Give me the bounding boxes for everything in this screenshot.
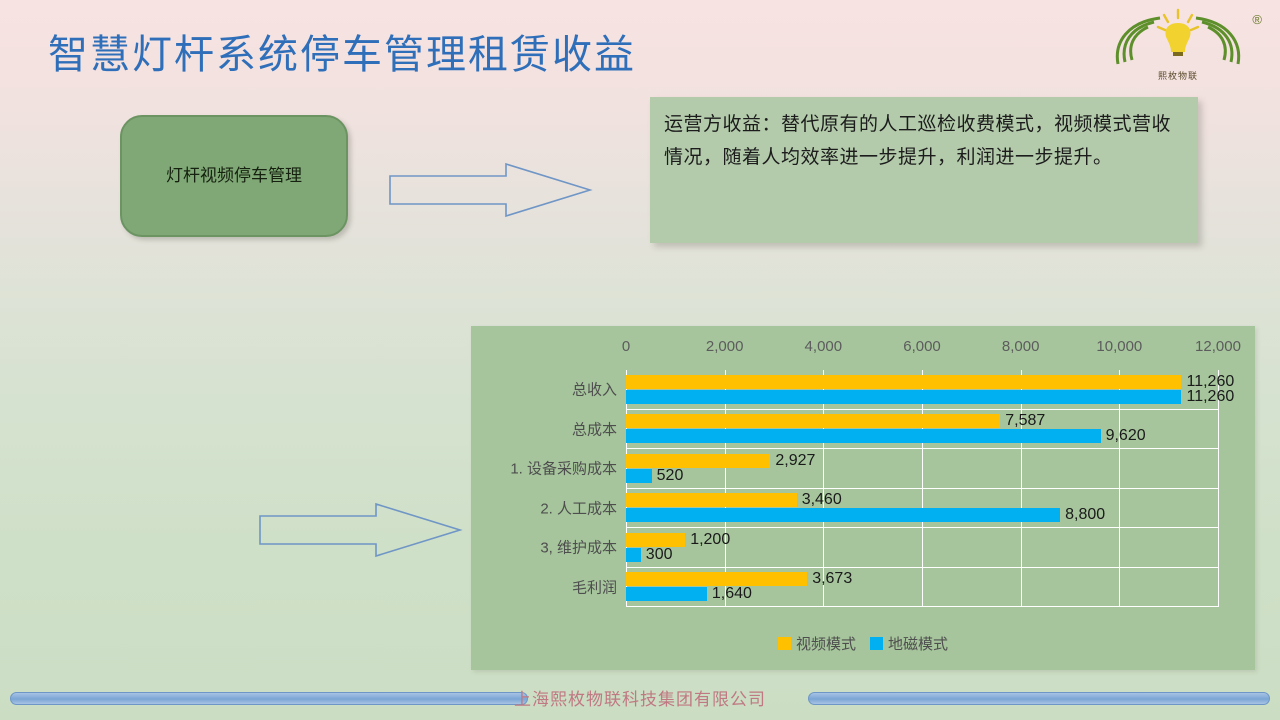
chart-category-row: 3, 维护成本1,200300	[626, 528, 1218, 568]
bar-地磁模式: 8,800	[626, 508, 1060, 522]
bar-value-label: 1,640	[712, 585, 752, 603]
bar-地磁模式: 300	[626, 548, 641, 562]
bar-视频模式: 3,673	[626, 572, 807, 586]
chart-category-row: 毛利润3,6731,640	[626, 568, 1218, 608]
chart-plot-area: 总收入11,26011,260总成本7,5879,6201. 设备采购成本2,9…	[626, 370, 1218, 607]
legend-item: 视频模式	[778, 633, 856, 654]
bar-value-label: 7,587	[1005, 412, 1045, 430]
revenue-comparison-chart: 02,0004,0006,0008,00010,00012,000 总收入11,…	[471, 326, 1255, 670]
bar-视频模式: 3,460	[626, 493, 797, 507]
chart-category-row: 2. 人工成本3,4608,800	[626, 489, 1218, 529]
footer-company-name: 上海熙枚物联科技集团有限公司	[0, 685, 1280, 710]
category-label: 总收入	[572, 379, 617, 400]
process-box-label: 灯杆视频停车管理	[166, 163, 302, 189]
company-logo: 熙枚物联 ®	[1088, 4, 1268, 84]
bar-value-label: 520	[657, 467, 684, 485]
process-box-video-parking: 灯杆视频停车管理	[120, 115, 348, 237]
x-tick-label: 8,000	[1002, 338, 1040, 355]
bar-地磁模式: 520	[626, 469, 652, 483]
category-label: 2. 人工成本	[540, 497, 617, 518]
category-label: 总成本	[572, 418, 617, 439]
bar-value-label: 3,673	[812, 570, 852, 588]
bar-视频模式: 11,260	[626, 375, 1181, 389]
bar-value-label: 3,460	[802, 491, 842, 509]
x-tick-label: 6,000	[903, 338, 941, 355]
bar-地磁模式: 9,620	[626, 429, 1101, 443]
bar-视频模式: 7,587	[626, 414, 1000, 428]
x-tick-label: 2,000	[706, 338, 744, 355]
x-tick-label: 12,000	[1195, 338, 1241, 355]
legend-swatch	[778, 637, 791, 650]
operator-benefit-note: 运营方收益：替代原有的人工巡检收费模式，视频模式营收情况，随着人均效率进一步提升…	[650, 97, 1198, 243]
bar-value-label: 8,800	[1065, 506, 1105, 524]
chart-category-row: 1. 设备采购成本2,927520	[626, 449, 1218, 489]
logo-mark	[1088, 4, 1268, 76]
category-label: 3, 维护成本	[540, 537, 617, 558]
legend-item: 地磁模式	[870, 633, 948, 654]
footer: 上海熙枚物联科技集团有限公司	[0, 688, 1280, 708]
chart-x-axis-ticks: 02,0004,0006,0008,00010,00012,000	[626, 338, 1218, 364]
arrow-to-chart-icon	[256, 500, 466, 560]
arrow-to-note-icon	[386, 160, 596, 220]
category-label: 毛利润	[572, 576, 617, 597]
x-tick-label: 10,000	[1096, 338, 1142, 355]
legend-label: 视频模式	[796, 633, 856, 654]
bar-value-label: 9,620	[1106, 427, 1146, 445]
category-label: 1. 设备采购成本	[510, 458, 617, 479]
chart-category-row: 总成本7,5879,620	[626, 410, 1218, 450]
chart-category-row: 总收入11,26011,260	[626, 370, 1218, 410]
bar-地磁模式: 11,260	[626, 390, 1181, 404]
logo-caption: 熙枚物联	[1088, 69, 1268, 82]
bar-value-label: 2,927	[775, 452, 815, 470]
bar-value-label: 11,260	[1186, 388, 1234, 406]
x-tick-label: 4,000	[805, 338, 843, 355]
bar-value-label: 300	[646, 546, 673, 564]
chart-legend: 视频模式地磁模式	[471, 633, 1255, 654]
registered-trademark-icon: ®	[1252, 12, 1262, 27]
bar-视频模式: 2,927	[626, 454, 770, 468]
legend-label: 地磁模式	[888, 633, 948, 654]
bar-value-label: 1,200	[690, 531, 730, 549]
legend-swatch	[870, 637, 883, 650]
bar-地磁模式: 1,640	[626, 587, 707, 601]
page-title: 智慧灯杆系统停车管理租赁收益	[48, 22, 636, 80]
bulb-icon	[1165, 23, 1190, 52]
note-text: 运营方收益：替代原有的人工巡检收费模式，视频模式营收情况，随着人均效率进一步提升…	[664, 114, 1171, 168]
bar-视频模式: 1,200	[626, 533, 685, 547]
x-tick-label: 0	[622, 338, 630, 355]
